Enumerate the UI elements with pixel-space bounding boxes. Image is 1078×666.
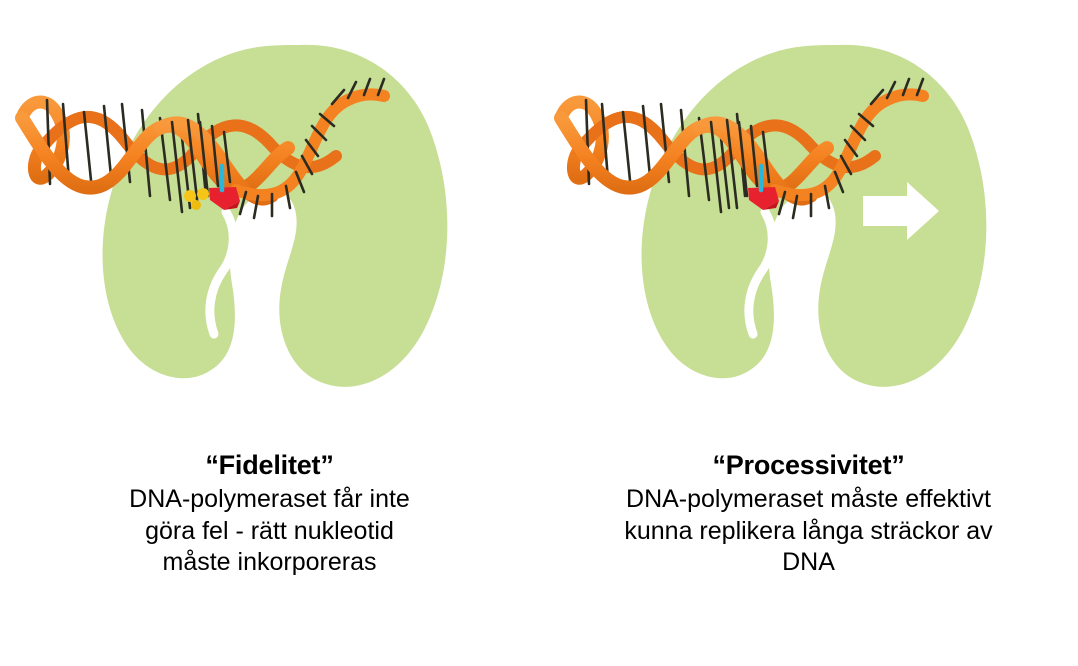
polymerase-enzyme-shape (642, 45, 987, 387)
description-line: måste inkorporeras (28, 547, 511, 579)
panel-title: “Processivitet” (539, 448, 1078, 482)
polymerase-enzyme-shape (103, 45, 448, 387)
slide-canvas: “Fidelitet” DNA-polymeraset får inte gör… (0, 0, 1078, 666)
panel-description: DNA-polymeraset måste effektivt kunna re… (539, 484, 1078, 579)
caption-fidelity: “Fidelitet” DNA-polymeraset får inte gör… (0, 448, 539, 579)
panel-processivity: “Processivitet” DNA-polymeraset måste ef… (539, 0, 1078, 666)
panel-title: “Fidelitet” (0, 448, 539, 482)
description-line: DNA (567, 547, 1050, 579)
panel-description: DNA-polymeraset får inte göra fel - rätt… (0, 484, 539, 579)
figure-fidelity (0, 0, 539, 440)
description-line: kunna replikera långa sträckor av (567, 516, 1050, 548)
description-line: DNA-polymeraset får inte (28, 484, 511, 516)
panel-fidelity: “Fidelitet” DNA-polymeraset får inte gör… (0, 0, 539, 666)
description-line: göra fel - rätt nukleotid (28, 516, 511, 548)
caption-processivity: “Processivitet” DNA-polymeraset måste ef… (539, 448, 1078, 579)
figure-processivity (539, 0, 1078, 440)
description-line: DNA-polymeraset måste effektivt (567, 484, 1050, 516)
